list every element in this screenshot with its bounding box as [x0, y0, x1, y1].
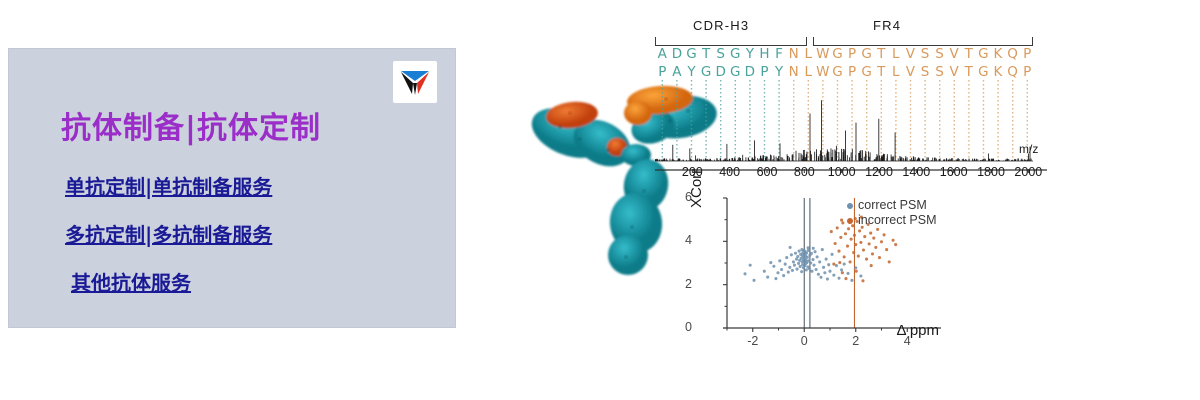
mz-axis-label: m/z: [1019, 142, 1038, 156]
residue: S: [918, 46, 933, 62]
mz-tick-label: 1800: [977, 165, 1005, 179]
residue: K: [991, 64, 1006, 80]
residue: N: [786, 46, 801, 62]
residue: P: [845, 64, 860, 80]
bracket-fr4: [813, 37, 1033, 46]
scatter-x-tick-label: 0: [801, 334, 808, 348]
residue: Y: [743, 46, 758, 62]
residue: D: [743, 64, 758, 80]
residue: G: [976, 46, 991, 62]
scatter-legend: correct PSM incorrect PSM: [847, 198, 937, 228]
legend-item-incorrect: incorrect PSM: [847, 213, 937, 228]
mz-axis: 200400600800100012001400160018002000: [655, 162, 1047, 184]
legend-label-correct: correct PSM: [858, 198, 927, 213]
residue: T: [961, 64, 976, 80]
residue: G: [699, 64, 714, 80]
promo-panel: 抗体制备|抗体定制 单抗定制|单抗制备服务 多抗定制|多抗制备服务 其他抗体服务: [8, 48, 456, 328]
residue: T: [961, 46, 976, 62]
residue: D: [713, 64, 728, 80]
scatter-y-tick-label: 2: [685, 277, 692, 291]
scatter-x-tick-label: 4: [904, 334, 911, 348]
residue: P: [1020, 64, 1035, 80]
residue: Q: [1005, 46, 1020, 62]
residue: K: [991, 46, 1006, 62]
residue: G: [830, 46, 845, 62]
residue: Y: [684, 64, 699, 80]
bracket-cdr-h3: [655, 37, 807, 46]
residue: G: [976, 64, 991, 80]
mz-tick-label: 1600: [940, 165, 968, 179]
mz-tick-label: 600: [757, 165, 778, 179]
residue: S: [932, 64, 947, 80]
residue: W: [816, 46, 831, 62]
legend-dot-incorrect: [847, 218, 853, 224]
residue: G: [684, 46, 699, 62]
residue: L: [801, 46, 816, 62]
region-label-cdr-h3: CDR-H3: [693, 18, 749, 33]
residue: G: [859, 64, 874, 80]
residue: V: [903, 46, 918, 62]
company-logo: [393, 61, 437, 103]
region-label-fr4: FR4: [873, 18, 901, 33]
residue: P: [845, 46, 860, 62]
legend-item-correct: correct PSM: [847, 198, 937, 213]
residue: S: [918, 64, 933, 80]
residue: G: [859, 46, 874, 62]
scatter-y-tick-label: 4: [685, 233, 692, 247]
spectrum-peaks: [655, 80, 1033, 162]
xcorr-ppm-scatter-plot: XCorr Δ ppm correct PSM incorrect PSM 02…: [685, 190, 945, 365]
sequence-row-2: PAYGDGDPYNLWGPGTLVSSVTGKQP: [655, 64, 1034, 80]
sequence-alignment-header: CDR-H3 FR4 ADGTSGYHFNLWGPGTLVSSVTGKQP PA…: [655, 18, 1033, 80]
residue: W: [816, 64, 831, 80]
legend-dot-correct: [847, 203, 853, 209]
tri-color-chevron-icon: [398, 67, 432, 97]
residue: A: [655, 46, 670, 62]
scatter-y-tick-label: 6: [685, 190, 692, 204]
residue: L: [889, 46, 904, 62]
residue: A: [670, 64, 685, 80]
residue: G: [830, 64, 845, 80]
promo-link-polyclonal[interactable]: 多抗定制|多抗制备服务: [65, 219, 272, 248]
scatter-y-tick-label: 0: [685, 320, 692, 334]
promo-link-other-services[interactable]: 其他抗体服务: [71, 267, 191, 296]
residue: G: [728, 46, 743, 62]
banner-page: 抗体制备|抗体定制 单抗定制|单抗制备服务 多抗定制|多抗制备服务 其他抗体服务: [0, 0, 1200, 400]
page-title: 抗体制备|抗体定制: [61, 103, 321, 147]
residue: T: [699, 46, 714, 62]
residue: S: [932, 46, 947, 62]
mz-tick-label: 1200: [865, 165, 893, 179]
mass-spectrum-plot: [655, 80, 1033, 162]
residue: N: [786, 64, 801, 80]
residue: P: [757, 64, 772, 80]
mz-tick-label: 800: [794, 165, 815, 179]
sequence-row-1: ADGTSGYHFNLWGPGTLVSSVTGKQP: [655, 46, 1034, 62]
residue: S: [713, 46, 728, 62]
residue: V: [903, 64, 918, 80]
residue: H: [757, 46, 772, 62]
promo-link-monoclonal[interactable]: 单抗定制|单抗制备服务: [65, 171, 272, 200]
residue: P: [655, 64, 670, 80]
residue: L: [801, 64, 816, 80]
scatter-x-tick-label: -2: [747, 334, 758, 348]
residue: V: [947, 64, 962, 80]
residue: Y: [772, 64, 787, 80]
mz-tick-label: 2000: [1014, 165, 1042, 179]
mz-tick-label: 400: [719, 165, 740, 179]
scatter-x-tick-label: 2: [852, 334, 859, 348]
residue: G: [728, 64, 743, 80]
mz-tick-label: 1000: [828, 165, 856, 179]
scientific-figure: CDR-H3 FR4 ADGTSGYHFNLWGPGTLVSSVTGKQP PA…: [500, 0, 1200, 400]
residue: T: [874, 46, 889, 62]
residue: L: [889, 64, 904, 80]
mz-tick-label: 1400: [902, 165, 930, 179]
residue: V: [947, 46, 962, 62]
residue: T: [874, 64, 889, 80]
residue: D: [670, 46, 685, 62]
residue: Q: [1005, 64, 1020, 80]
residue: P: [1020, 46, 1035, 62]
residue: F: [772, 46, 787, 62]
legend-label-incorrect: incorrect PSM: [858, 213, 937, 228]
